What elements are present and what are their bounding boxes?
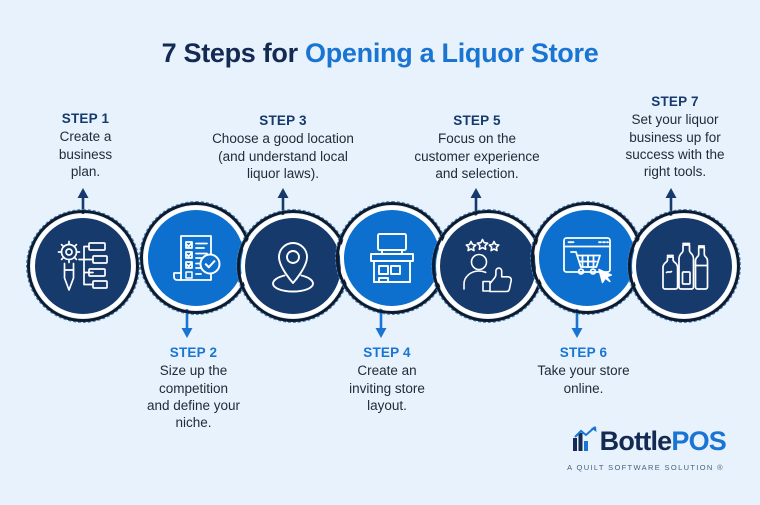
step-2-line: niche. (112, 414, 275, 431)
step-4-line: Create an (313, 362, 461, 379)
step-5-line: customer experience (382, 148, 572, 165)
step-2-heading: STEP 2 (112, 344, 275, 361)
checklist-clipboard-icon (167, 229, 225, 287)
step-4-line: inviting store (313, 380, 461, 397)
step-4-body: Create an inviting store layout. (313, 362, 461, 414)
logo-wordmark: BottlePOS (600, 428, 726, 455)
step-6-icon-circle[interactable] (535, 206, 639, 310)
bottlepos-logo[interactable]: BottlePOS A QUILT SOFTWARE SOLUTION ® (567, 426, 726, 472)
step-3-line: Choose a good location (183, 130, 383, 147)
step-node-1[interactable] (31, 214, 135, 318)
step-text-6: STEP 6 Take your store online. (506, 344, 661, 397)
step-7-line: business up for (596, 129, 754, 146)
step-6-line: Take your store (506, 362, 661, 379)
step-1-heading: STEP 1 (18, 110, 153, 127)
step-1-line: plan. (18, 163, 153, 180)
step-node-4[interactable] (340, 206, 444, 310)
step-node-7[interactable] (632, 214, 736, 318)
step-7-line: success with the (596, 146, 754, 163)
step-3-heading: STEP 3 (183, 112, 383, 129)
step-node-5[interactable] (436, 214, 540, 318)
step-2-icon-circle[interactable] (144, 206, 248, 310)
page-title-prefix: 7 Steps for (162, 38, 305, 68)
step-5-heading: STEP 5 (382, 112, 572, 129)
step-4-line: layout. (313, 397, 461, 414)
gear-flowchart-pencil-icon (53, 236, 113, 296)
step-1-body: Create a business plan. (18, 128, 153, 180)
logo-row: BottlePOS (567, 426, 726, 457)
step-node-2[interactable] (144, 206, 248, 310)
step-7-icon-circle[interactable] (632, 214, 736, 318)
online-store-cart-icon (558, 229, 616, 287)
step-1-line: Create a (18, 128, 153, 145)
step-5-icon-circle[interactable] (436, 214, 540, 318)
step-3-line: (and understand local (183, 148, 383, 165)
step-7-line: right tools. (596, 163, 754, 180)
step-text-1: STEP 1 Create a business plan. (18, 110, 153, 180)
step-node-3[interactable] (241, 214, 345, 318)
step-6-heading: STEP 6 (506, 344, 661, 361)
infographic-canvas: 7 Steps for Opening a Liquor Store STEP … (0, 0, 760, 505)
step-text-7: STEP 7 Set your liquor business up for s… (596, 93, 754, 180)
step-node-6[interactable] (535, 206, 639, 310)
step-5-line: Focus on the (382, 130, 572, 147)
step-text-5: STEP 5 Focus on the customer experience … (382, 112, 572, 182)
bar-chart-arrow-icon (572, 426, 598, 457)
step-4-heading: STEP 4 (313, 344, 461, 361)
step-2-body: Size up the competition and define your … (112, 362, 275, 431)
logo-tagline: A QUILT SOFTWARE SOLUTION ® (567, 463, 724, 472)
liquor-bottles-icon (655, 237, 713, 295)
step-6-body: Take your store online. (506, 362, 661, 397)
step-1-line: business (18, 146, 153, 163)
step-2-line: competition (112, 380, 275, 397)
logo-word-pos: POS (671, 426, 726, 456)
step-3-body: Choose a good location (and understand l… (183, 130, 383, 182)
step-3-icon-circle[interactable] (241, 214, 345, 318)
storefront-icon (363, 229, 421, 287)
step-6-line: online. (506, 380, 661, 397)
step-text-4: STEP 4 Create an inviting store layout. (313, 344, 461, 414)
step-2-line: and define your (112, 397, 275, 414)
step-text-3: STEP 3 Choose a good location (and under… (183, 112, 383, 182)
step-7-body: Set your liquor business up for success … (596, 111, 754, 180)
step-3-line: liquor laws). (183, 165, 383, 182)
page-title-highlight: Opening a Liquor Store (305, 38, 598, 68)
page-title: 7 Steps for Opening a Liquor Store (0, 38, 760, 69)
location-pin-icon (264, 237, 322, 295)
step-5-body: Focus on the customer experience and sel… (382, 130, 572, 182)
step-1-icon-circle[interactable] (31, 214, 135, 318)
step-7-line: Set your liquor (596, 111, 754, 128)
step-text-2: STEP 2 Size up the competition and defin… (112, 344, 275, 431)
step-7-heading: STEP 7 (596, 93, 754, 110)
step-2-line: Size up the (112, 362, 275, 379)
customer-rating-thumbsup-icon (459, 237, 517, 295)
step-4-icon-circle[interactable] (340, 206, 444, 310)
step-5-line: and selection. (382, 165, 572, 182)
logo-word-bottle: Bottle (600, 426, 672, 456)
